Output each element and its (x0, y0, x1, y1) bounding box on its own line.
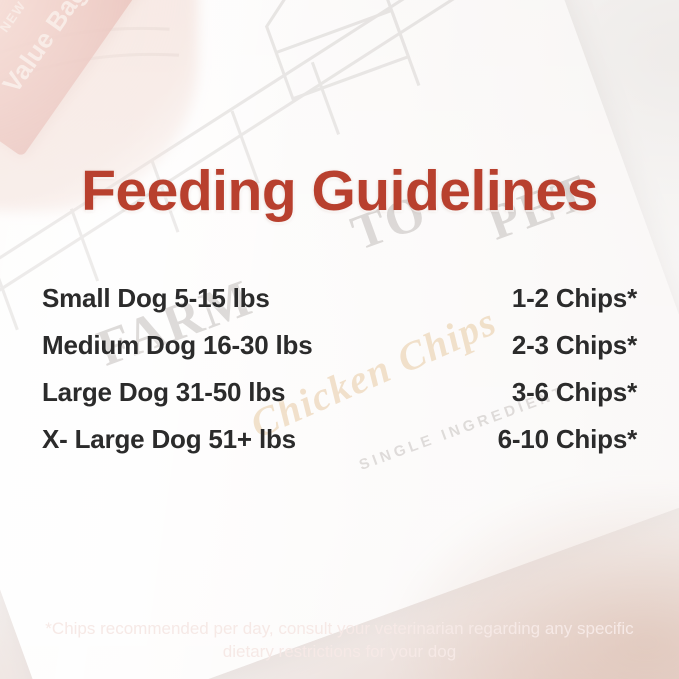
guideline-value: 1-2 Chips* (479, 283, 637, 314)
guideline-row: Large Dog 31-50 lbs ....................… (42, 377, 637, 424)
guideline-label: Large Dog 31-50 lbs (42, 377, 285, 408)
footer-line-2: dietary restrictions for your dog (26, 640, 653, 663)
feeding-guidelines-list: Small Dog 5-15 lbs .................... … (42, 283, 637, 471)
guideline-value: 2-3 Chips* (479, 330, 637, 361)
poster-content: Feeding Guidelines Small Dog 5-15 lbs ..… (0, 0, 679, 679)
guideline-label: X- Large Dog 51+ lbs (42, 424, 296, 455)
footer-disclaimer: *Chips recommended per day, consult your… (0, 617, 679, 679)
guideline-row: X- Large Dog 51+ lbs ...................… (42, 424, 637, 471)
guideline-label: Small Dog 5-15 lbs (42, 283, 270, 314)
page-title: Feeding Guidelines (0, 158, 679, 224)
guideline-label: Medium Dog 16-30 lbs (42, 330, 313, 361)
guideline-value: 6-10 Chips* (479, 424, 637, 455)
footer-line-1: *Chips recommended per day, consult your… (26, 617, 653, 640)
guideline-row: Small Dog 5-15 lbs .................... … (42, 283, 637, 330)
guideline-value: 3-6 Chips* (479, 377, 637, 408)
feeding-guidelines-poster: FARM TO PET Chicken Chips SINGLE INGREDI… (0, 0, 679, 679)
guideline-row: Medium Dog 16-30 lbs ...................… (42, 330, 637, 377)
